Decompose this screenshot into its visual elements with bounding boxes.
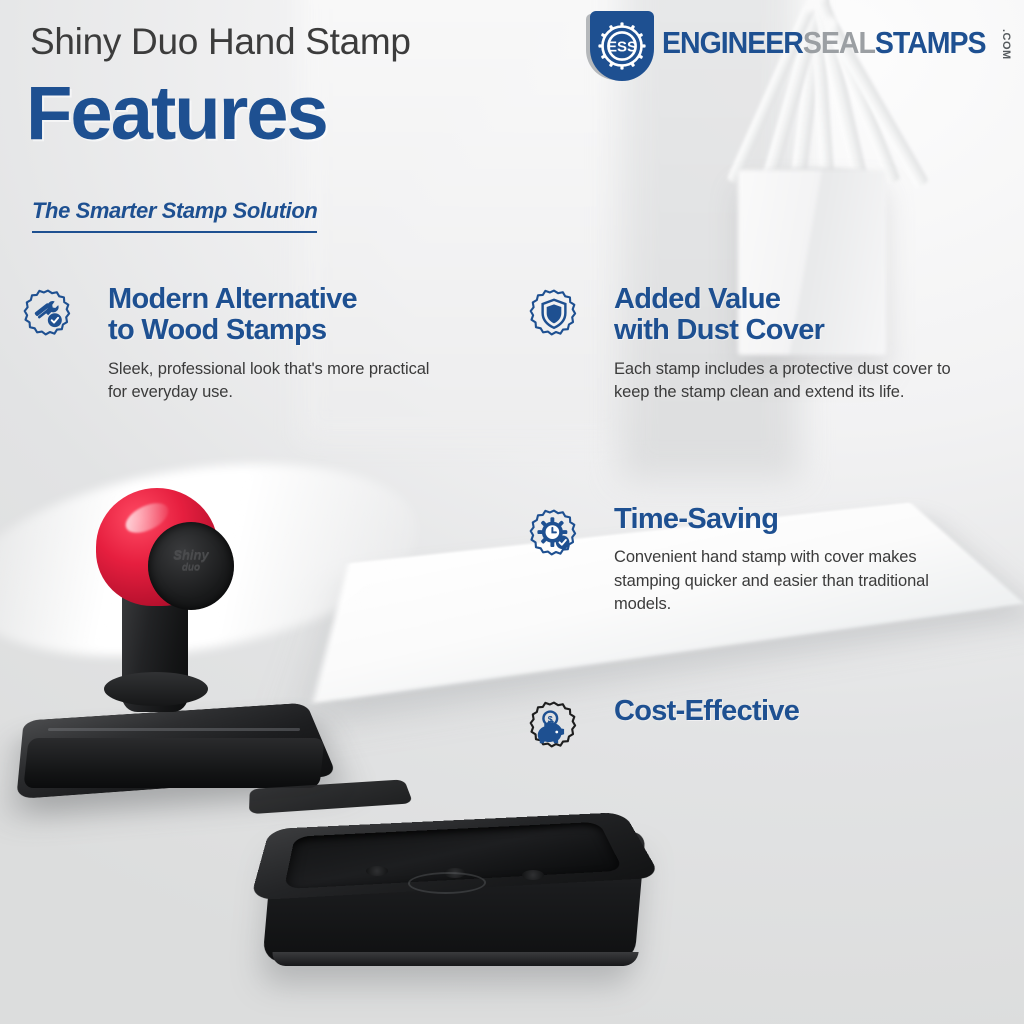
logo-wordmark: ENGINEERSEALSTAMPS — [662, 25, 986, 61]
gear-clock-check-badge-icon — [528, 508, 580, 560]
feature-body: Sleek, professional look that's more pra… — [108, 358, 438, 405]
stamp-label-line2: duo — [148, 562, 234, 573]
ess-badge-text: ESS — [607, 39, 637, 56]
ess-gear-badge-icon: ESS — [590, 11, 654, 81]
dust-cover-image — [258, 780, 678, 1020]
feature-heading: Modern Alternative to Wood Stamps — [108, 284, 438, 347]
page-title: Shiny Duo Hand Stamp — [30, 21, 411, 63]
feature-heading-line2: with Dust Cover — [614, 314, 824, 346]
feature-heading-line2: to Wood Stamps — [108, 314, 326, 346]
shield-badge-icon — [528, 288, 580, 340]
infographic-canvas: Shiny Duo Hand Stamp — [0, 0, 1024, 1024]
logo-word-seal: SEAL — [803, 25, 875, 60]
feature-heading-line1: Added Value — [614, 283, 780, 315]
logo-word-engineer: ENGINEER — [662, 25, 803, 60]
feature-heading: Cost-Effective — [614, 696, 799, 727]
feature-heading: Time-Saving — [614, 504, 974, 535]
subtitle: The Smarter Stamp Solution — [32, 198, 317, 233]
tools-check-badge-icon — [22, 288, 74, 340]
feature-heading: Added Value with Dust Cover — [614, 284, 974, 347]
logo-tld: .COM — [1000, 29, 1012, 60]
logo-word-stamps: STAMPS — [875, 25, 986, 60]
stamp-brand-disc: Shiny duo — [148, 522, 234, 610]
feature-heading-line1: Modern Alternative — [108, 283, 357, 315]
piggy-bank-dollar-badge-icon: $ — [528, 700, 580, 752]
ess-logo[interactable]: ESS ENGINEERSEALSTAMPS .COM — [586, 11, 1016, 83]
feature-body: Convenient hand stamp with cover makes s… — [614, 546, 974, 616]
feature-body: Each stamp includes a protective dust co… — [614, 358, 974, 405]
headline: Features — [26, 76, 327, 152]
stamp-label-line1: Shiny — [173, 547, 208, 562]
